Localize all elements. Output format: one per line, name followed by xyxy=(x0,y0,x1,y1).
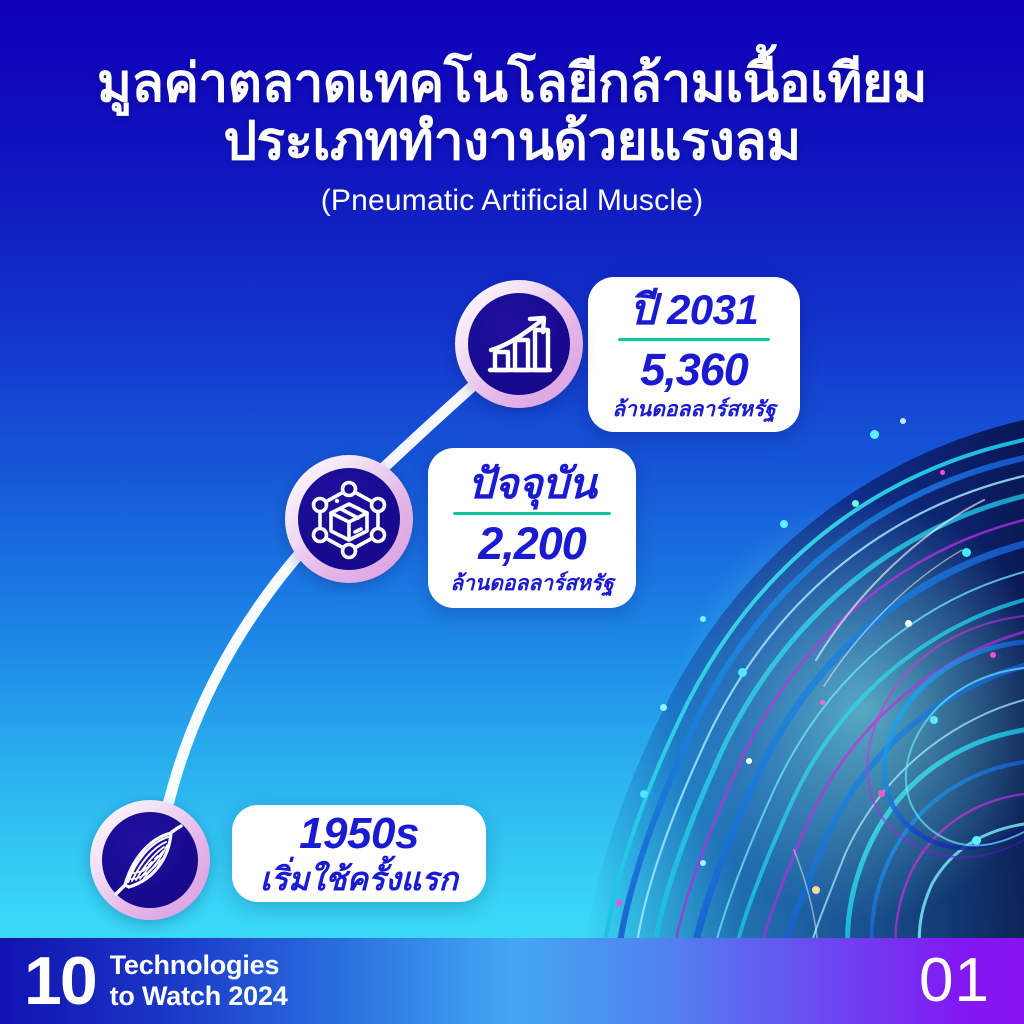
card-divider xyxy=(453,512,611,515)
milestone-value: 5,360 xyxy=(640,347,748,392)
particle xyxy=(812,886,820,894)
timeline-node-1950s[interactable] xyxy=(90,800,210,920)
node-core xyxy=(468,293,570,395)
muscle-fiber-icon xyxy=(113,823,187,897)
particle xyxy=(640,790,648,798)
page-subtitle: (Pneumatic Artificial Muscle) xyxy=(0,184,1024,218)
timeline-node-2031[interactable] xyxy=(455,280,583,408)
card-divider xyxy=(618,338,770,341)
particle xyxy=(852,500,859,507)
footer-line2: to Watch 2024 xyxy=(110,981,288,1012)
particle xyxy=(738,668,747,677)
milestone-unit: ล้านดอลลาร์สหรัฐ xyxy=(450,573,614,594)
footer-number-ten: 10 xyxy=(24,952,96,1010)
footer-line1: Technologies xyxy=(110,950,288,981)
milestone-title: ปี 2031 xyxy=(630,289,759,331)
particle xyxy=(972,836,981,845)
footer-bar: 10 Technologies to Watch 2024 01 xyxy=(0,938,1024,1024)
particle xyxy=(962,548,971,557)
particle xyxy=(700,860,706,866)
bar-chart-growth-icon xyxy=(482,310,556,378)
brand-lockup: 10 Technologies to Watch 2024 xyxy=(24,950,288,1013)
milestone-card-present[interactable]: ปัจจุบัน 2,200 ล้านดอลลาร์สหรัฐ xyxy=(428,448,636,608)
header: มูลค่าตลาดเทคโนโลยีกล้ามเนื้อเทียม ประเภ… xyxy=(0,56,1024,218)
milestone-title: ปัจจุบัน xyxy=(468,463,597,505)
milestone-card-2031[interactable]: ปี 2031 5,360 ล้านดอลลาร์สหรัฐ xyxy=(588,277,800,432)
timeline-node-present[interactable] xyxy=(285,455,413,583)
infographic-poster: มูลค่าตลาดเทคโนโลยีกล้ามเนื้อเทียม ประเภ… xyxy=(0,0,1024,1024)
milestone-card-1950s[interactable]: 1950s เริ่มใช้ครั้งแรก xyxy=(232,805,486,902)
milestone-value: 2,200 xyxy=(478,521,586,566)
particle xyxy=(746,758,752,764)
milestone-unit: ล้านดอลลาร์สหรัฐ xyxy=(612,399,776,420)
milestone-subtitle: เริ่มใช้ครั้งแรก xyxy=(260,863,458,895)
node-core xyxy=(298,468,400,570)
footer-brand-lines: Technologies to Watch 2024 xyxy=(110,950,288,1013)
node-core xyxy=(102,812,198,908)
particle xyxy=(870,430,879,439)
particle xyxy=(930,716,938,724)
particle xyxy=(940,470,945,475)
page-number-badge: 01 xyxy=(919,950,990,1012)
particle xyxy=(700,616,706,622)
particle xyxy=(660,704,667,711)
particle xyxy=(878,790,885,797)
particle xyxy=(905,620,912,627)
page-title-line1: มูลค่าตลาดเทคโนโลยีกล้ามเนื้อเทียม xyxy=(0,56,1024,112)
particle xyxy=(780,520,788,528)
particle xyxy=(820,700,825,705)
particle xyxy=(990,652,996,658)
cube-network-icon xyxy=(310,478,388,560)
particle xyxy=(900,418,906,424)
particle xyxy=(616,900,622,906)
page-title-line2: ประเภททำงานด้วยแรงลม xyxy=(0,114,1024,170)
milestone-title: 1950s xyxy=(299,812,419,856)
